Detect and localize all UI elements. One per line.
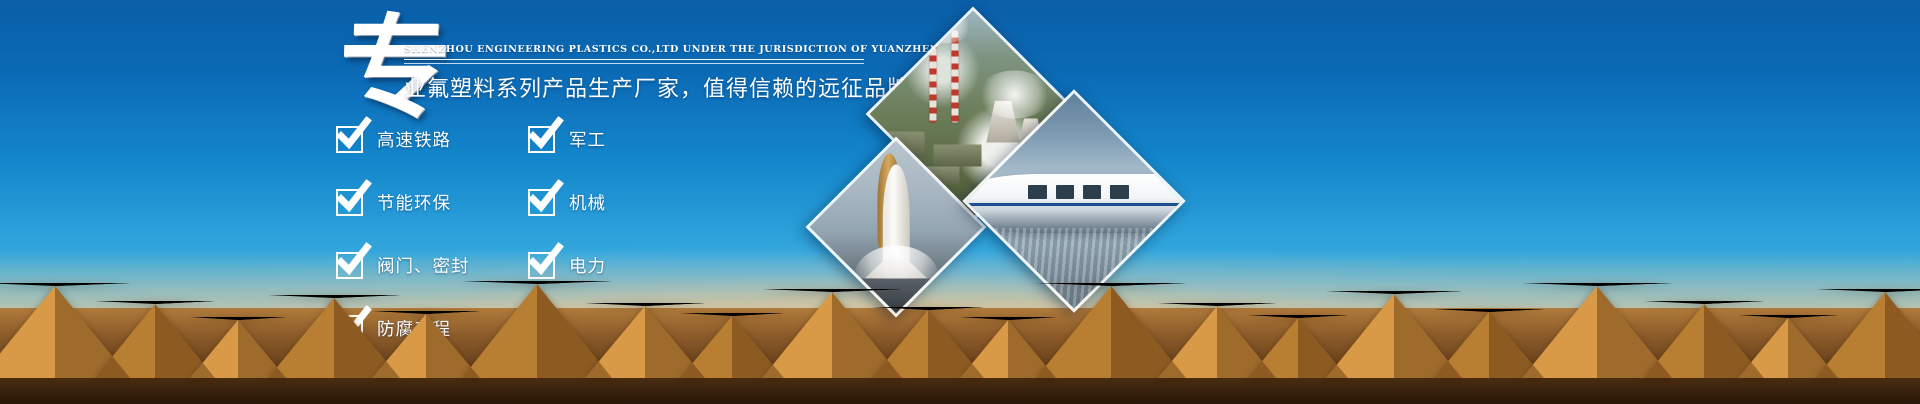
smoke-plume <box>916 9 973 44</box>
pyramid-shaded-face <box>1489 309 1544 378</box>
pyramid-shaded-face <box>1597 283 1672 378</box>
train-window <box>1083 185 1101 199</box>
feature-label: 节能环保 <box>377 190 451 215</box>
pyramid-shaded-face <box>832 289 902 378</box>
feature-item[interactable]: 高速铁路 <box>336 122 470 157</box>
pyramid-shaded-face <box>537 281 612 378</box>
pyramid-shaded-face <box>1704 301 1764 378</box>
pyramid-shaded-face <box>732 313 784 378</box>
check-box-icon <box>336 189 363 216</box>
pyramid-shaded-face <box>155 301 215 378</box>
pyramid-shaded-face <box>1885 289 1920 378</box>
pyramid-shaded-face <box>645 303 705 378</box>
pyramid-shaded-face <box>1008 317 1056 378</box>
train-window <box>1056 185 1074 199</box>
pyramid-shaded-face <box>55 283 130 378</box>
feature-item[interactable]: 阀门、密封 <box>336 248 470 283</box>
headline-block: SHENZHOU ENGINEERING PLASTICS CO.,LTD UN… <box>404 44 874 103</box>
train-stripe <box>962 203 1185 206</box>
feature-label: 机械 <box>569 190 606 215</box>
feature-item[interactable]: 电力 <box>528 248 606 283</box>
smokestack-icon <box>951 31 958 123</box>
pyramid-shaded-face <box>238 317 286 378</box>
train-window <box>1110 185 1128 199</box>
building-block <box>934 145 982 167</box>
english-tagline: SHENZHOU ENGINEERING PLASTICS CO.,LTD UN… <box>404 44 874 55</box>
pyramid-shaded-face <box>928 307 984 378</box>
check-box-icon <box>528 126 555 153</box>
chinese-subtitle: 业氟塑料系列产品生产厂家，值得信赖的远征品牌 <box>404 71 874 103</box>
check-box-icon <box>528 189 555 216</box>
pyramid-shaded-face <box>1217 303 1276 378</box>
smoke-plume <box>977 70 1051 118</box>
check-box-icon <box>336 126 363 153</box>
pyramid-shaded-face <box>1298 315 1348 378</box>
train-window <box>1028 185 1046 199</box>
feature-item[interactable]: 节能环保 <box>336 185 470 220</box>
feature-item[interactable]: 军工 <box>528 122 606 157</box>
feature-item[interactable]: 机械 <box>528 185 606 220</box>
feature-label: 阀门、密封 <box>377 253 470 278</box>
train-body <box>962 174 1185 233</box>
feature-label: 军工 <box>569 127 606 152</box>
promo-banner: 专 SHENZHOU ENGINEERING PLASTICS CO.,LTD … <box>0 0 1920 404</box>
pyramid-shaded-face <box>1788 315 1838 378</box>
double-rule-divider <box>404 59 864 64</box>
pyramid-shaded-face <box>1111 283 1186 378</box>
check-box-icon <box>336 252 363 279</box>
feature-label: 电力 <box>569 253 606 278</box>
pyramid-shaded-face <box>1394 291 1462 378</box>
check-box-icon <box>528 252 555 279</box>
feature-label: 高速铁路 <box>377 127 451 152</box>
pyramid-shaded-face <box>334 295 400 378</box>
smokestack-icon <box>929 22 936 123</box>
pyramid-shaded-face <box>426 311 480 378</box>
